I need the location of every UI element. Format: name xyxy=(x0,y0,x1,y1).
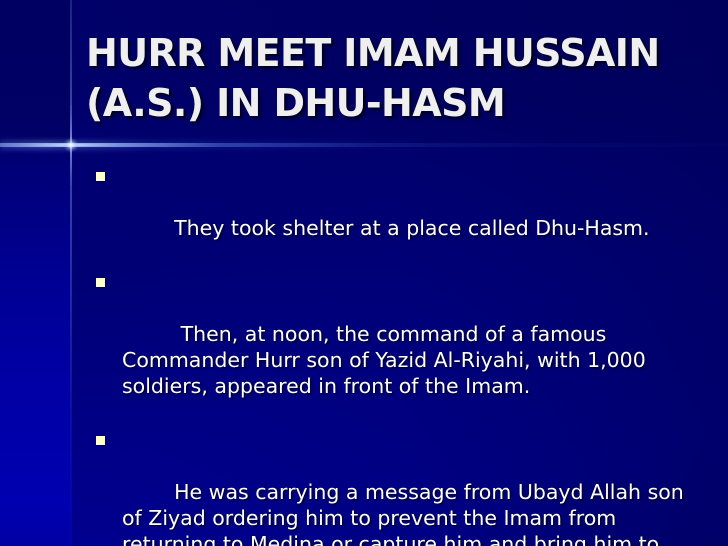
square-bullet-icon xyxy=(96,172,105,181)
list-item-text: Then, at noon, the command of a famous C… xyxy=(122,322,652,398)
slide-title: HURR MEET IMAM HUSSAIN (A.S.) IN DHU-HAS… xyxy=(86,28,698,128)
list-item: They took shelter at a place called Dhu-… xyxy=(96,163,696,267)
list-item: Then, at noon, the command of a famous C… xyxy=(96,269,696,425)
presentation-slide: HURR MEET IMAM HUSSAIN (A.S.) IN DHU-HAS… xyxy=(0,0,728,546)
slide-bullet-list: They took shelter at a place called Dhu-… xyxy=(96,163,696,546)
list-item-text: He was carrying a message from Ubayd All… xyxy=(122,480,690,546)
list-item-text: They took shelter at a place called Dhu-… xyxy=(174,216,649,240)
slide-content: HURR MEET IMAM HUSSAIN (A.S.) IN DHU-HAS… xyxy=(0,0,728,546)
square-bullet-icon xyxy=(96,278,105,287)
list-item: He was carrying a message from Ubayd All… xyxy=(96,427,696,546)
square-bullet-icon xyxy=(96,436,105,445)
